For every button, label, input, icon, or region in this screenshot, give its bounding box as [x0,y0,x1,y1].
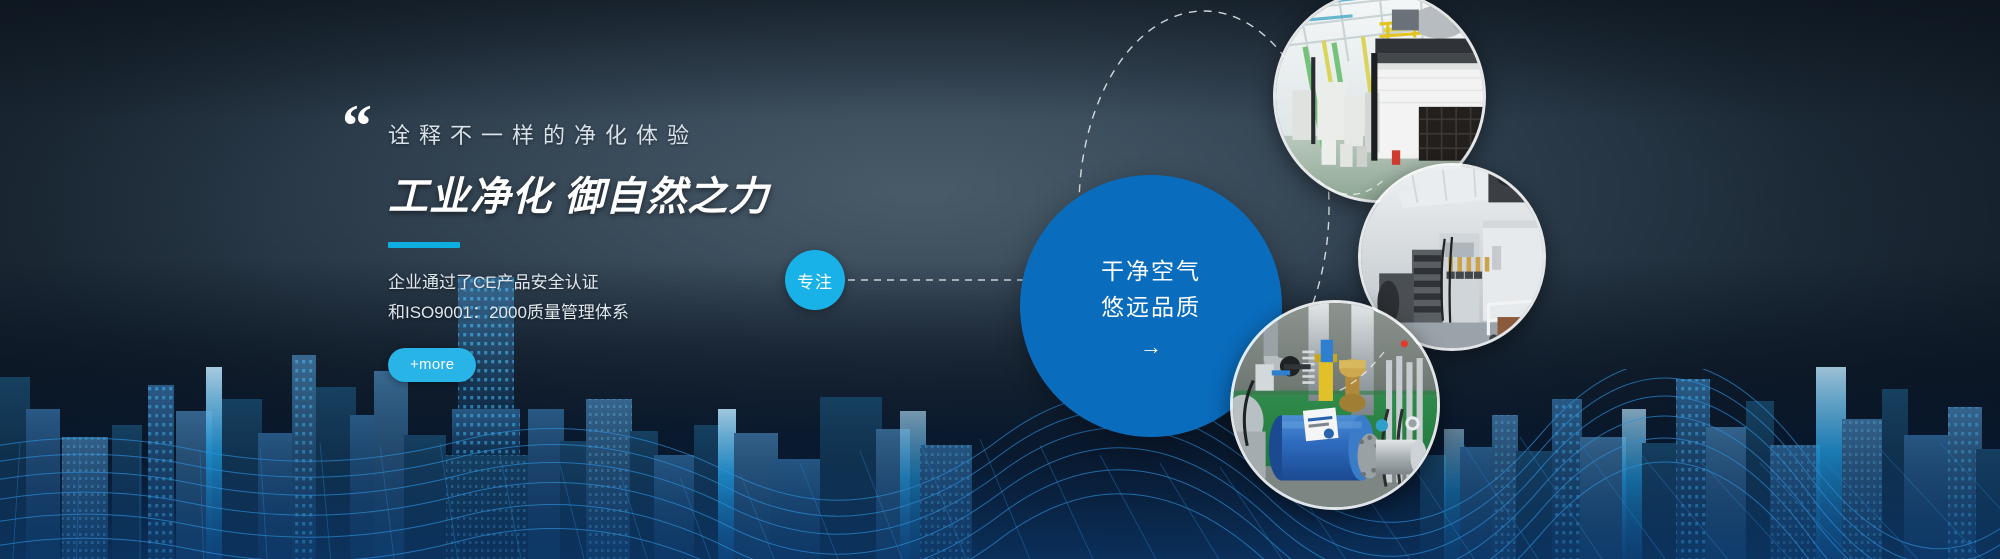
focus-badge-label: 专注 [797,268,833,293]
hero-subtitle: 诠释不一样的净化体验 [388,118,908,150]
arrow-right-icon: → [1140,336,1162,358]
hero-banner: “ 诠释不一样的净化体验 工业净化 御自然之力 企业通过了CE产品安全认证 和I… [0,0,2000,559]
background-top-shade [0,0,2000,120]
accent-divider [388,242,460,248]
wireframe-terrain-mesh [0,369,2000,559]
focus-badge[interactable]: 专注 [785,250,845,310]
more-button[interactable]: +more [388,348,476,382]
photo-pressure-vessel[interactable] [1230,300,1440,510]
city-skyline-scene [0,259,2000,559]
hub-line-1: 干净空气 [1101,254,1201,290]
hero-copy-block: “ 诠释不一样的净化体验 工业净化 御自然之力 企业通过了CE产品安全认证 和I… [388,118,908,382]
hub-line-2: 悠远品质 [1101,290,1201,326]
photo-pressure-vessel-image [1233,303,1437,507]
hero-headline: 工业净化 御自然之力 [388,164,908,222]
quote-icon: “ [342,96,370,156]
